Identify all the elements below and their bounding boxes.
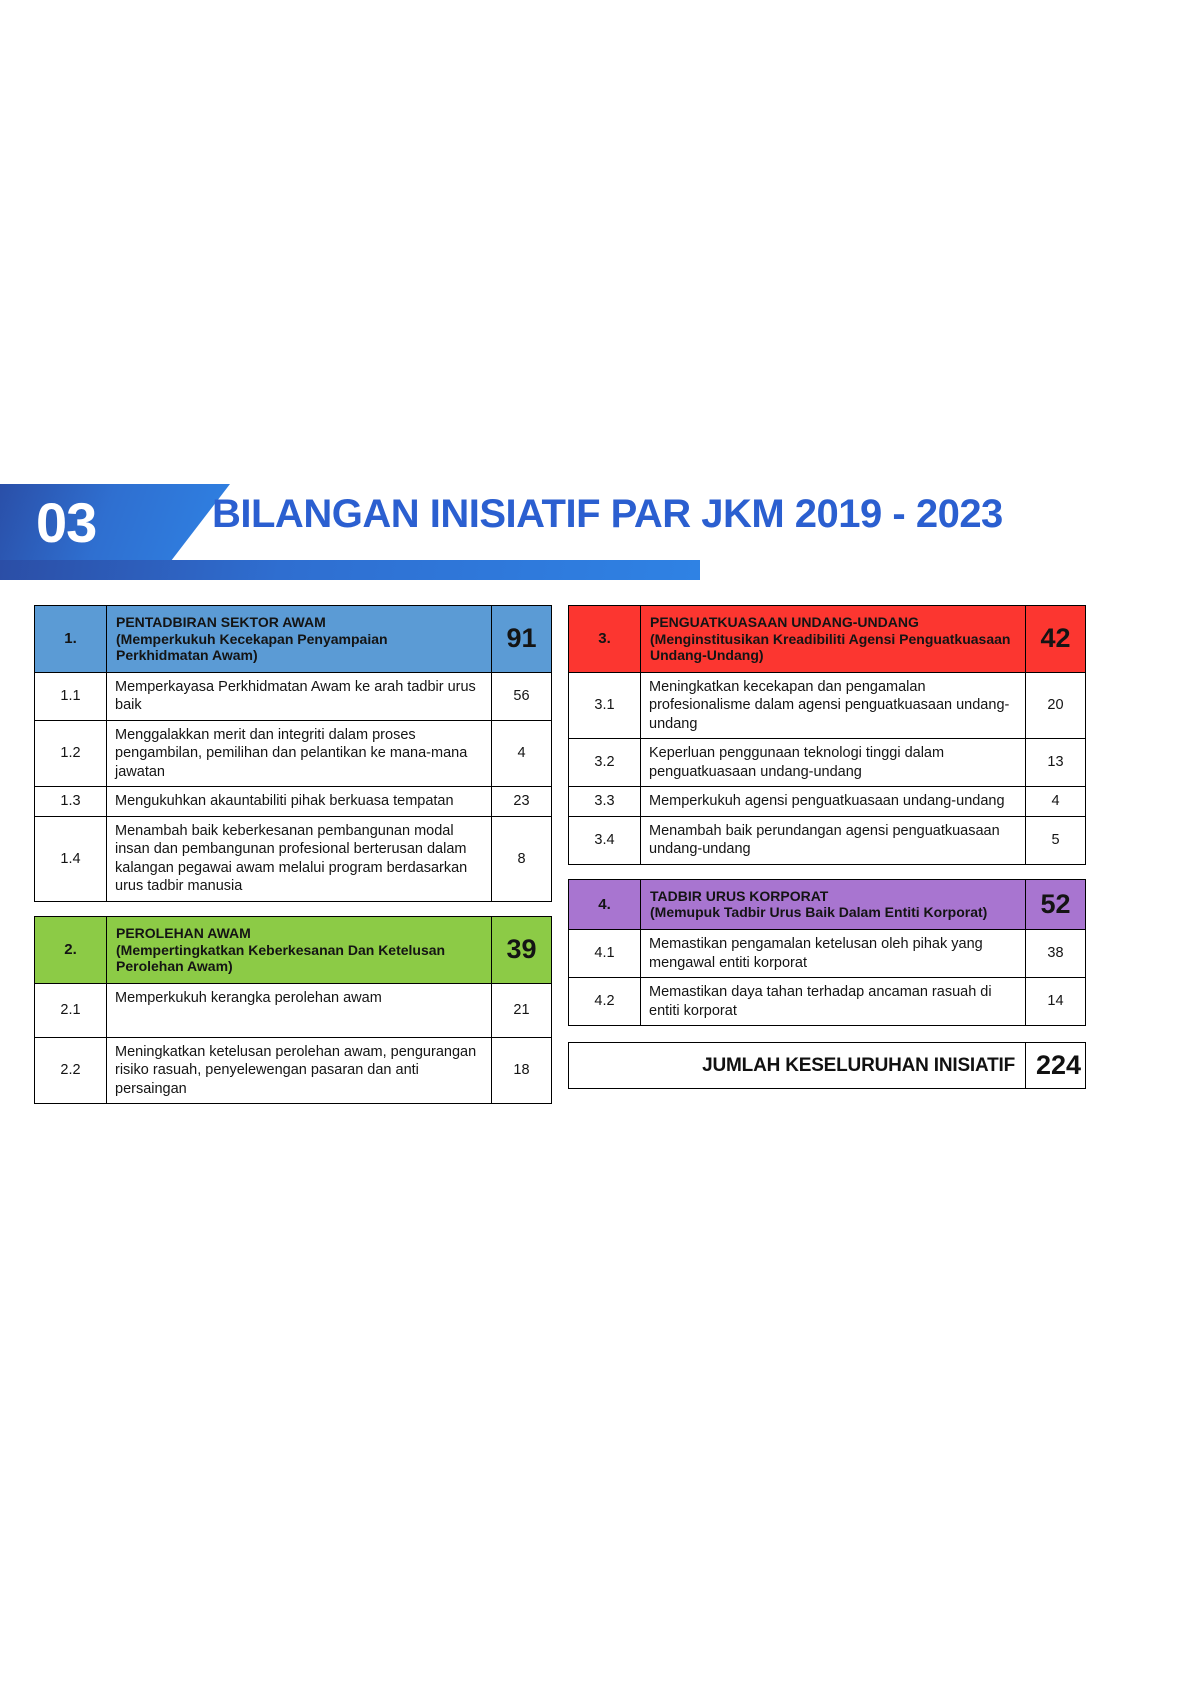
page-title: BILANGAN INISIATIF PAR JKM 2019 - 2023	[212, 492, 1003, 537]
row-description: Memperkukuh agensi penguatkuasaan undang…	[641, 787, 1026, 817]
section-2-header-row: 2. PEROLEHAN AWAM (Mempertingkatkan Kebe…	[35, 917, 552, 984]
page-header: 03 BILANGAN INISIATIF PAR JKM 2019 - 202…	[0, 484, 1190, 589]
section-3-title: PENGUATKUASAAN UNDANG-UNDANG	[650, 614, 1017, 631]
section-4-total: 52	[1026, 879, 1086, 929]
row-number: 1.1	[35, 672, 107, 720]
row-description: Memastikan pengamalan ketelusan oleh pih…	[641, 929, 1026, 977]
right-column: 3. PENGUATKUASAAN UNDANG-UNDANG (Mengins…	[568, 605, 1086, 1089]
row-number: 3.4	[569, 816, 641, 864]
row-number: 3.3	[569, 787, 641, 817]
section-4-table: 4. TADBIR URUS KORPORAT (Memupuk Tadbir …	[568, 879, 1086, 1026]
row-value: 4	[1026, 787, 1086, 817]
table-row: 3.1 Meningkatkan kecekapan dan pengamala…	[569, 672, 1086, 739]
grand-total-label: JUMLAH KESELURUHAN INISIATIF	[569, 1043, 1026, 1089]
row-number: 1.2	[35, 720, 107, 787]
row-value: 56	[492, 672, 552, 720]
section-2-total: 39	[492, 917, 552, 984]
table-row: 3.3 Memperkukuh agensi penguatkuasaan un…	[569, 787, 1086, 817]
table-row: 1.2 Menggalakkan merit dan integriti dal…	[35, 720, 552, 787]
row-value: 20	[1026, 672, 1086, 739]
section-3-title-cell: PENGUATKUASAAN UNDANG-UNDANG (Menginstit…	[641, 606, 1026, 673]
row-description: Meningkatkan ketelusan perolehan awam, p…	[107, 1037, 492, 1104]
section-1-table: 1. PENTADBIRAN SEKTOR AWAM (Memperkukuh …	[34, 605, 552, 902]
section-1-title: PENTADBIRAN SEKTOR AWAM	[116, 614, 483, 631]
row-number: 3.2	[569, 739, 641, 787]
row-description: Meningkatkan kecekapan dan pengamalan pr…	[641, 672, 1026, 739]
row-number: 4.2	[569, 978, 641, 1026]
table-row: 3.4 Menambah baik perundangan agensi pen…	[569, 816, 1086, 864]
header-underline-bar	[0, 560, 700, 580]
table-row: 4.1 Memastikan pengamalan ketelusan oleh…	[569, 929, 1086, 977]
section-1-subtitle: (Memperkukuh Kecekapan Penyampaian Perkh…	[116, 631, 483, 664]
grand-total-table: JUMLAH KESELURUHAN INISIATIF 224	[568, 1042, 1086, 1089]
grand-total-value: 224	[1026, 1043, 1086, 1089]
table-row: 2.2 Meningkatkan ketelusan perolehan awa…	[35, 1037, 552, 1104]
row-number: 2.2	[35, 1037, 107, 1104]
section-1-header-row: 1. PENTADBIRAN SEKTOR AWAM (Memperkukuh …	[35, 606, 552, 673]
section-4-title: TADBIR URUS KORPORAT	[650, 888, 1017, 905]
row-description: Menambah baik keberkesanan pembangunan m…	[107, 816, 492, 901]
section-2-title-cell: PEROLEHAN AWAM (Mempertingkatkan Keberke…	[107, 917, 492, 984]
row-number: 2.1	[35, 983, 107, 1037]
table-row: 4.2 Memastikan daya tahan terhadap ancam…	[569, 978, 1086, 1026]
section-3-subtitle: (Menginstitusikan Kreadibiliti Agensi Pe…	[650, 631, 1017, 664]
section-1-number: 1.	[35, 606, 107, 673]
row-description: Keperluan penggunaan teknologi tinggi da…	[641, 739, 1026, 787]
section-3-total: 42	[1026, 606, 1086, 673]
section-2-number: 2.	[35, 917, 107, 984]
table-row: 3.2 Keperluan penggunaan teknologi tingg…	[569, 739, 1086, 787]
section-1-title-cell: PENTADBIRAN SEKTOR AWAM (Memperkukuh Kec…	[107, 606, 492, 673]
row-description: Memperkayasa Perkhidmatan Awam ke arah t…	[107, 672, 492, 720]
section-3-number: 3.	[569, 606, 641, 673]
section-2-subtitle: (Mempertingkatkan Keberkesanan Dan Ketel…	[116, 942, 483, 975]
row-value: 14	[1026, 978, 1086, 1026]
row-value: 21	[492, 983, 552, 1037]
row-value: 4	[492, 720, 552, 787]
row-value: 8	[492, 816, 552, 901]
section-number: 03	[36, 495, 96, 551]
section-4-header-row: 4. TADBIR URUS KORPORAT (Memupuk Tadbir …	[569, 879, 1086, 929]
row-description: Mengukuhkan akauntabiliti pihak berkuasa…	[107, 787, 492, 817]
section-4-title-cell: TADBIR URUS KORPORAT (Memupuk Tadbir Uru…	[641, 879, 1026, 929]
row-number: 3.1	[569, 672, 641, 739]
left-column: 1. PENTADBIRAN SEKTOR AWAM (Memperkukuh …	[34, 605, 552, 1118]
table-row: 1.3 Mengukuhkan akauntabiliti pihak berk…	[35, 787, 552, 817]
row-value: 23	[492, 787, 552, 817]
section-number-badge: 03	[0, 484, 230, 562]
row-description: Memastikan daya tahan terhadap ancaman r…	[641, 978, 1026, 1026]
row-value: 13	[1026, 739, 1086, 787]
table-row: 1.4 Menambah baik keberkesanan pembangun…	[35, 816, 552, 901]
section-1-total: 91	[492, 606, 552, 673]
grand-total-row: JUMLAH KESELURUHAN INISIATIF 224	[569, 1043, 1086, 1089]
section-2-title: PEROLEHAN AWAM	[116, 925, 483, 942]
row-description: Menggalakkan merit dan integriti dalam p…	[107, 720, 492, 787]
row-value: 5	[1026, 816, 1086, 864]
section-2-table: 2. PEROLEHAN AWAM (Mempertingkatkan Kebe…	[34, 916, 552, 1104]
table-row: 1.1 Memperkayasa Perkhidmatan Awam ke ar…	[35, 672, 552, 720]
row-value: 38	[1026, 929, 1086, 977]
section-4-subtitle: (Memupuk Tadbir Urus Baik Dalam Entiti K…	[650, 904, 1017, 921]
section-3-table: 3. PENGUATKUASAAN UNDANG-UNDANG (Mengins…	[568, 605, 1086, 865]
row-description: Menambah baik perundangan agensi penguat…	[641, 816, 1026, 864]
row-number: 1.3	[35, 787, 107, 817]
row-description: Memperkukuh kerangka perolehan awam	[107, 983, 492, 1037]
row-number: 1.4	[35, 816, 107, 901]
row-value: 18	[492, 1037, 552, 1104]
row-number: 4.1	[569, 929, 641, 977]
table-row: 2.1 Memperkukuh kerangka perolehan awam …	[35, 983, 552, 1037]
section-3-header-row: 3. PENGUATKUASAAN UNDANG-UNDANG (Mengins…	[569, 606, 1086, 673]
section-4-number: 4.	[569, 879, 641, 929]
